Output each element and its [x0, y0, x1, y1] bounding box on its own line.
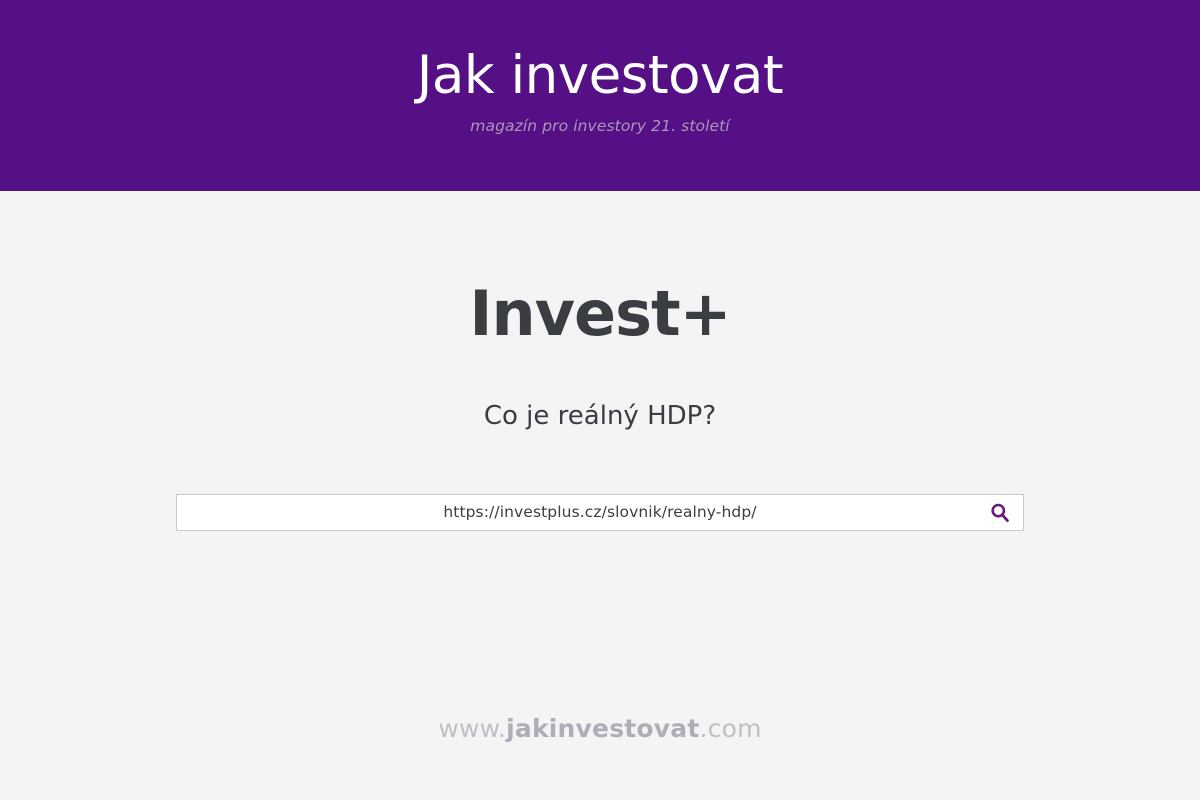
- site-header: Jak investovat magazín pro investory 21.…: [0, 0, 1200, 191]
- page-title: Co je reálný HDP?: [0, 403, 1200, 429]
- footer-domain-suffix: .com: [700, 714, 762, 743]
- search-icon[interactable]: [989, 502, 1011, 524]
- search-input[interactable]: https://investplus.cz/slovnik/realny-hdp…: [443, 505, 756, 521]
- site-tagline: magazín pro investory 21. století: [470, 119, 729, 135]
- brand-logo: Invest+: [0, 283, 1200, 345]
- footer-domain: www.jakinvestovat.com: [438, 716, 761, 741]
- footer-domain-name: jakinvestovat: [506, 714, 699, 743]
- footer-domain-prefix: www.: [438, 714, 506, 743]
- page-root: Jak investovat magazín pro investory 21.…: [0, 0, 1200, 800]
- site-title: Jak investovat: [417, 49, 783, 102]
- search-bar[interactable]: https://investplus.cz/slovnik/realny-hdp…: [176, 494, 1024, 531]
- site-footer: www.jakinvestovat.com: [0, 690, 1200, 800]
